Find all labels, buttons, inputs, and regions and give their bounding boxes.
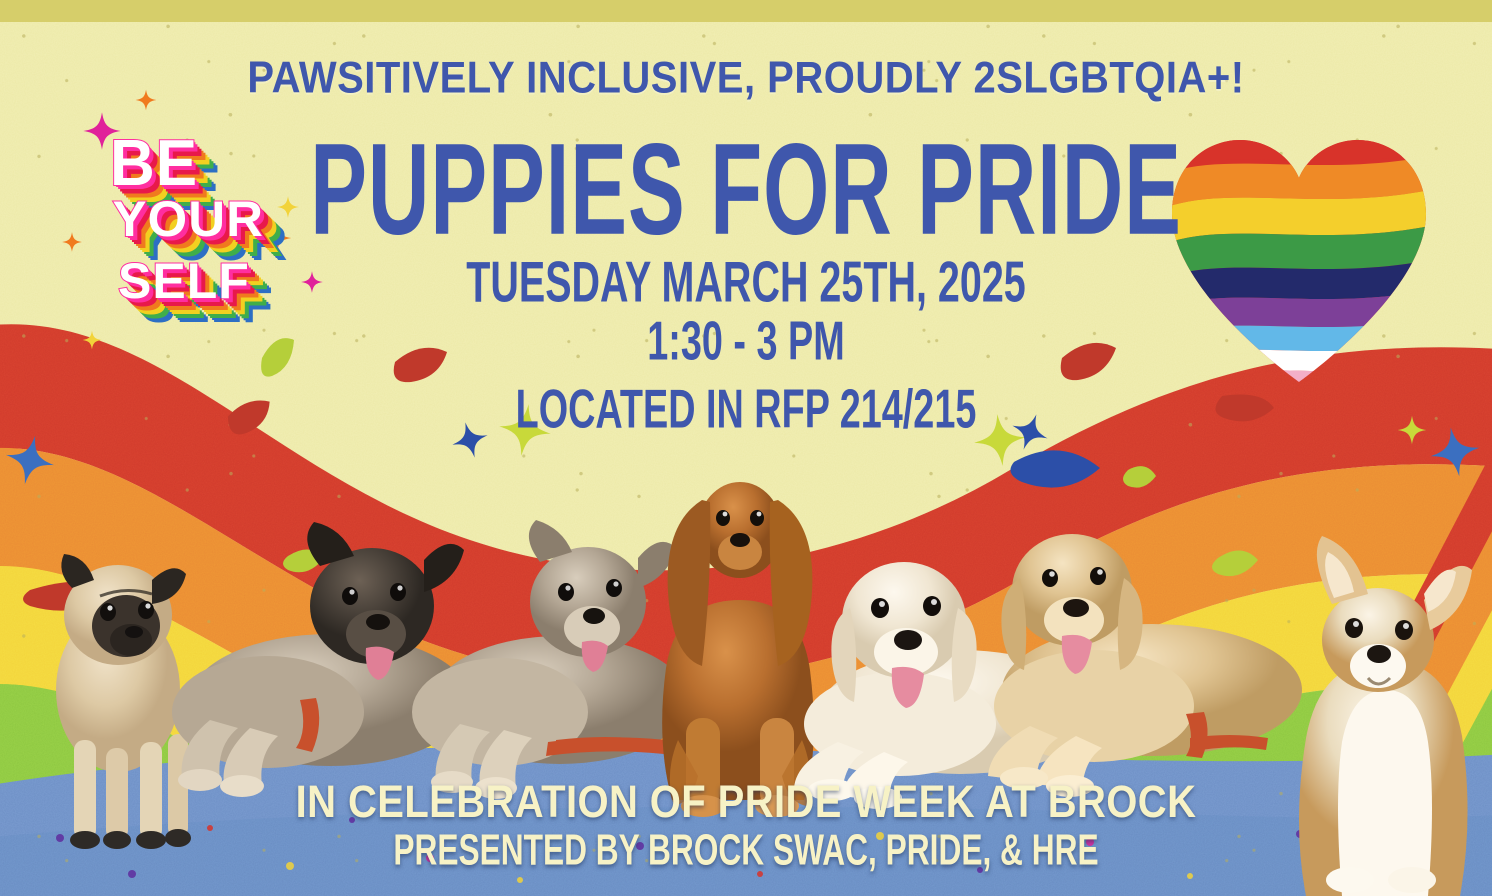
event-time: 1:30 - 3 PM [119, 313, 1372, 368]
tagline: PAWSITIVELY INCLUSIVE, PROUDLY 2SLGBTQIA… [0, 53, 1492, 103]
poster-text-layer: PAWSITIVELY INCLUSIVE, PROUDLY 2SLGBTQIA… [0, 0, 1492, 896]
event-location: LOCATED IN RFP 214/215 [119, 381, 1372, 436]
footer-presenters-line: PRESENTED BY BROCK SWAC, PRIDE, & HRE [90, 828, 1403, 871]
event-date: TUESDAY MARCH 25TH, 2025 [119, 253, 1372, 310]
poster-canvas: BE YOUR SELF [0, 0, 1492, 896]
page-title: PUPPIES FOR PRIDE [134, 125, 1357, 255]
footer-celebration-line: IN CELEBRATION OF PRIDE WEEK AT BROCK [0, 779, 1492, 825]
